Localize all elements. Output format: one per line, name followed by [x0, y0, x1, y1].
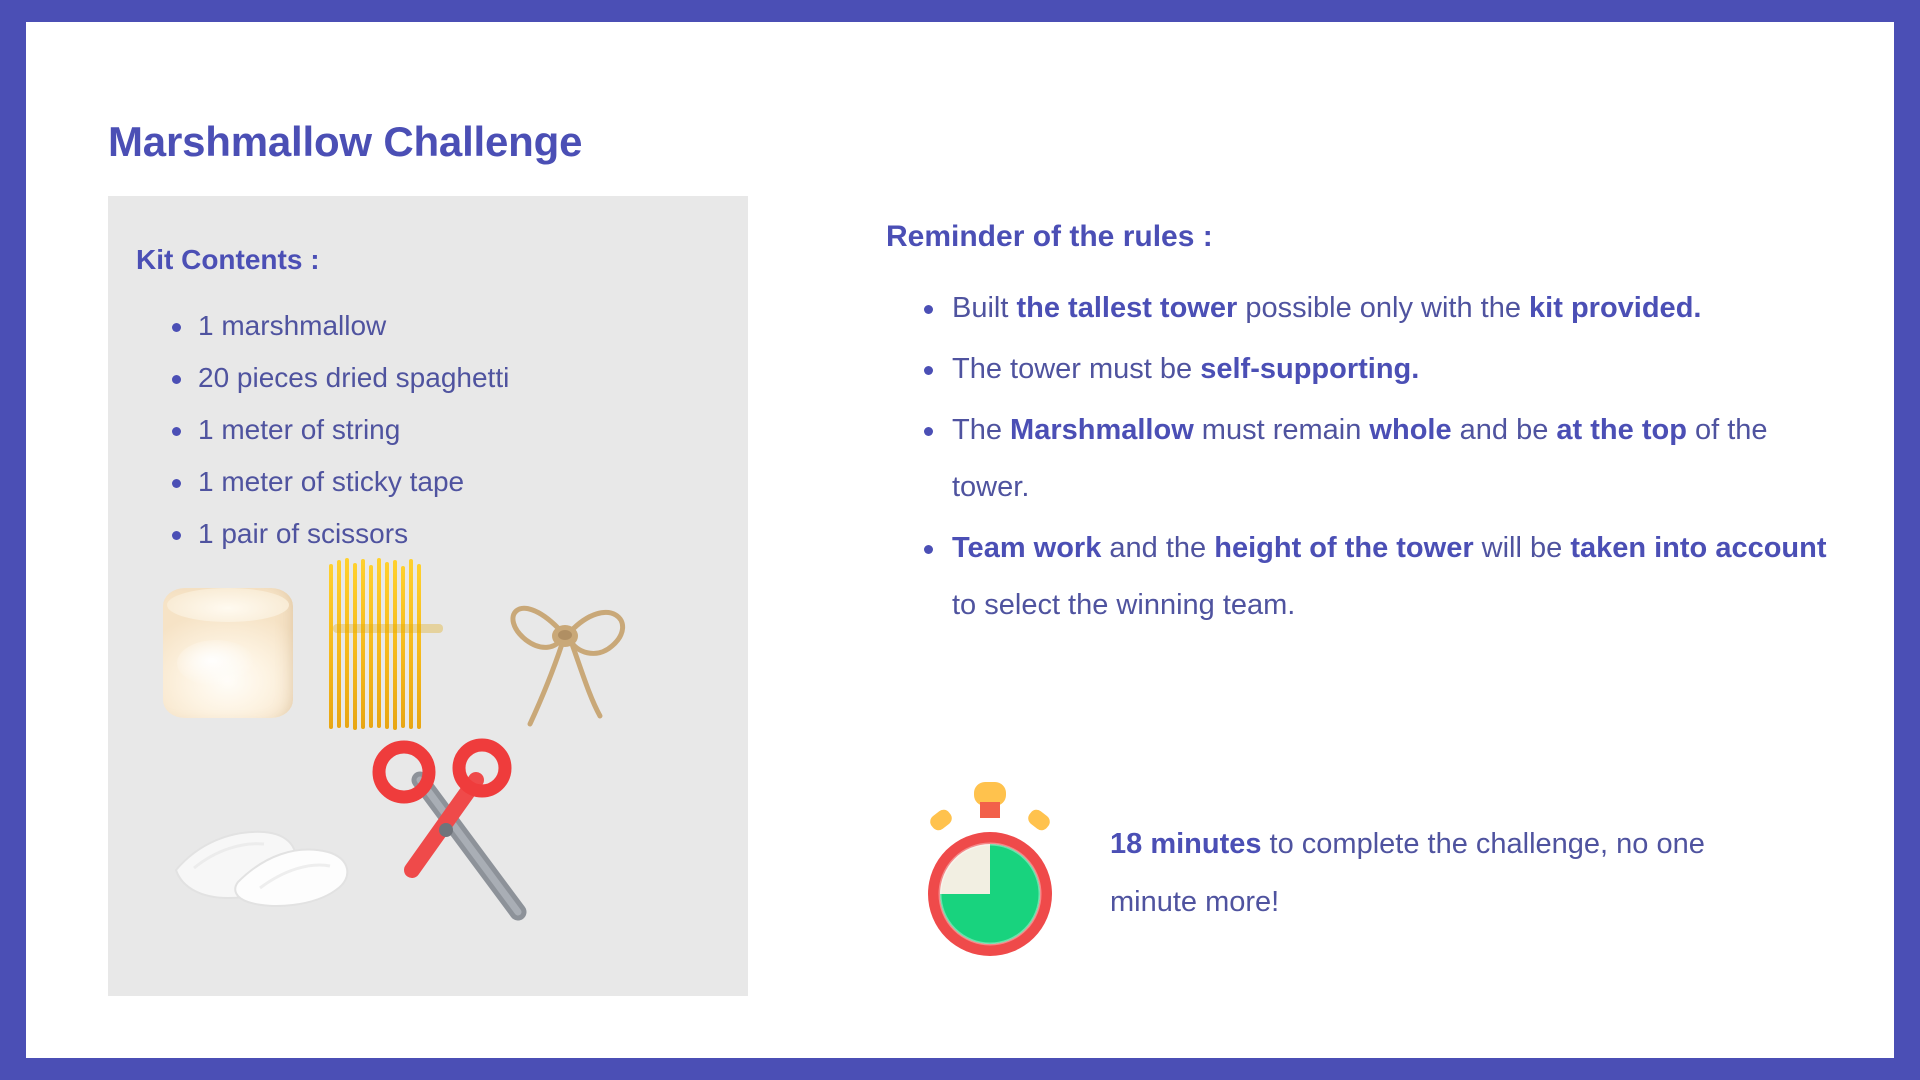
kit-contents-heading: Kit Contents : — [136, 244, 320, 276]
rules-heading: Reminder of the rules : — [886, 220, 1213, 254]
kit-list-item: 1 meter of string — [164, 404, 724, 456]
rules-list-item: Team work and the height of the tower wi… — [918, 520, 1828, 634]
page-title: Marshmallow Challenge — [108, 118, 582, 166]
kit-list-item: 1 pair of scissors — [164, 508, 724, 560]
rule-segment-text: and be — [1452, 414, 1557, 446]
kit-list-item: 1 marshmallow — [164, 300, 724, 352]
rule-segment-emphasis: Team work — [952, 532, 1101, 564]
timer-block: 18 minutes to complete the challenge, no… — [904, 778, 1750, 968]
kit-list-item: 1 meter of sticky tape — [164, 456, 724, 508]
rules-list-item: The Marshmallow must remain whole and be… — [918, 402, 1828, 516]
rule-segment-text: must remain — [1194, 414, 1370, 446]
timer-text: 18 minutes to complete the challenge, no… — [1110, 815, 1750, 931]
rule-segment-emphasis: whole — [1369, 414, 1451, 446]
rule-segment-text: Built — [952, 292, 1016, 324]
kit-list-item: 20 pieces dried spaghetti — [164, 352, 724, 404]
slide-canvas: Marshmallow Challenge Kit Contents : 1 m… — [26, 22, 1894, 1058]
marshmallow-illustration — [163, 588, 293, 718]
timer-segment-emphasis: 18 minutes — [1110, 828, 1262, 860]
rules-list-item: Built the tallest tower possible only wi… — [918, 280, 1828, 337]
stopwatch-icon — [904, 778, 1074, 968]
rule-segment-text: to select the winning team. — [952, 589, 1295, 621]
rule-segment-text: and the — [1101, 532, 1214, 564]
scissors-illustration — [358, 736, 558, 936]
rule-segment-emphasis: kit provided. — [1529, 292, 1701, 324]
rule-segment-text: The — [952, 414, 1010, 446]
kit-contents-list: 1 marshmallow20 pieces dried spaghetti1 … — [164, 300, 724, 560]
rule-segment-emphasis: self-supporting. — [1200, 353, 1419, 385]
rule-segment-emphasis: at the top — [1556, 414, 1687, 446]
rule-segment-text: The tower must be — [952, 353, 1200, 385]
string-illustration — [478, 566, 658, 736]
rules-list-item: The tower must be self-supporting. — [918, 341, 1828, 398]
rule-segment-emphasis: height of the tower — [1214, 532, 1473, 564]
kit-contents-panel: Kit Contents : 1 marshmallow20 pieces dr… — [108, 196, 748, 996]
rule-segment-text: possible only with the — [1237, 292, 1529, 324]
rule-segment-emphasis: Marshmallow — [1010, 414, 1194, 446]
rule-segment-emphasis: the tallest tower — [1016, 292, 1237, 324]
spaghetti-illustration — [323, 558, 453, 728]
rule-segment-text: will be — [1474, 532, 1571, 564]
sticky-tape-illustration — [168, 786, 358, 936]
rule-segment-emphasis: taken into account — [1570, 532, 1826, 564]
slide-border: Marshmallow Challenge Kit Contents : 1 m… — [0, 0, 1920, 1080]
kit-illustrations — [108, 566, 748, 996]
rules-list: Built the tallest tower possible only wi… — [918, 280, 1828, 638]
